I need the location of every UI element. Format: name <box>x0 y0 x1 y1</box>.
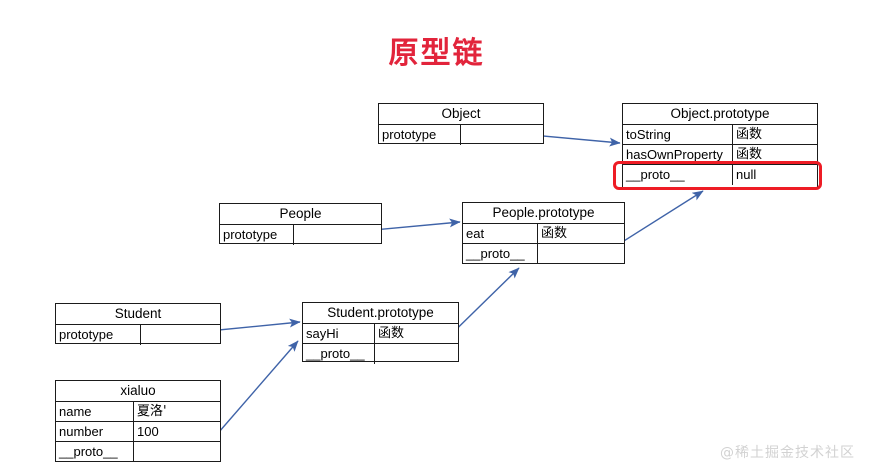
table-row[interactable]: eat 函数 <box>463 224 624 244</box>
box-student-prototype-row1-key: __proto__ <box>303 344 375 364</box>
box-xialuo-row2-key: __proto__ <box>56 442 134 462</box>
box-object-prototype-row1-key: hasOwnProperty <box>623 145 733 164</box>
table-row[interactable]: prototype <box>56 325 220 345</box>
box-student-prototype-row0-key: sayHi <box>303 324 375 343</box>
table-row[interactable]: __proto__ <box>463 244 624 264</box>
box-student[interactable]: Student prototype <box>55 303 221 344</box>
box-xialuo[interactable]: xialuo name 夏洛' number 100 __proto__ <box>55 380 221 462</box>
box-object-prototype-row1-value: 函数 <box>733 145 817 164</box>
box-people-prototype-header: People.prototype <box>463 203 624 224</box>
table-row[interactable]: __proto__ <box>56 442 220 462</box>
box-object-prototype-row0-value: 函数 <box>733 125 817 144</box>
box-people-prototype-row1-key: __proto__ <box>463 244 538 264</box>
box-people-prototype-row0-key: eat <box>463 224 538 243</box>
table-row[interactable]: __proto__ <box>303 344 458 364</box>
table-row[interactable]: hasOwnProperty 函数 <box>623 145 817 165</box>
box-object-prototype-header: Object.prototype <box>623 104 817 125</box>
box-people-prototype-row1-value <box>538 244 624 264</box>
box-people-row0-value <box>294 225 381 245</box>
box-student-row0-value <box>141 325 220 345</box>
box-student-prototype-row1-value <box>375 344 458 364</box>
box-object-row0-key: prototype <box>379 125 461 145</box>
box-xialuo-row0-key: name <box>56 402 134 421</box>
diagram-canvas: 原型链 Object prototype Object.prototype to… <box>0 0 873 470</box>
table-row[interactable]: number 100 <box>56 422 220 442</box>
box-xialuo-row0-value: 夏洛' <box>134 402 220 421</box>
box-people-prototype[interactable]: People.prototype eat 函数 __proto__ <box>462 202 625 264</box>
box-xialuo-row1-value: 100 <box>134 422 220 441</box>
box-student-header: Student <box>56 304 220 325</box>
table-row[interactable]: sayHi 函数 <box>303 324 458 344</box>
table-row[interactable]: prototype <box>379 125 543 145</box>
box-student-prototype-row0-value: 函数 <box>375 324 458 343</box>
box-people-prototype-row0-value: 函数 <box>538 224 624 243</box>
box-student-prototype[interactable]: Student.prototype sayHi 函数 __proto__ <box>302 302 459 362</box>
box-object-header: Object <box>379 104 543 125</box>
table-row-proto-null[interactable]: __proto__ null <box>623 165 817 185</box>
box-people-row0-key: prototype <box>220 225 294 245</box>
box-xialuo-row2-value <box>134 442 220 462</box>
box-object-row0-value <box>461 125 543 145</box>
box-student-row0-key: prototype <box>56 325 141 345</box>
box-student-prototype-header: Student.prototype <box>303 303 458 324</box>
table-row[interactable]: name 夏洛' <box>56 402 220 422</box>
box-object-prototype-row2-key: __proto__ <box>623 165 733 185</box>
box-object-prototype[interactable]: Object.prototype toString 函数 hasOwnPrope… <box>622 103 818 188</box>
box-object-prototype-row2-value: null <box>733 165 817 185</box>
box-people-header: People <box>220 204 381 225</box>
table-row[interactable]: prototype <box>220 225 381 245</box>
box-xialuo-row1-key: number <box>56 422 134 441</box>
box-people[interactable]: People prototype <box>219 203 382 244</box>
table-row[interactable]: toString 函数 <box>623 125 817 145</box>
box-object[interactable]: Object prototype <box>378 103 544 144</box>
box-xialuo-header: xialuo <box>56 381 220 402</box>
box-object-prototype-row0-key: toString <box>623 125 733 144</box>
